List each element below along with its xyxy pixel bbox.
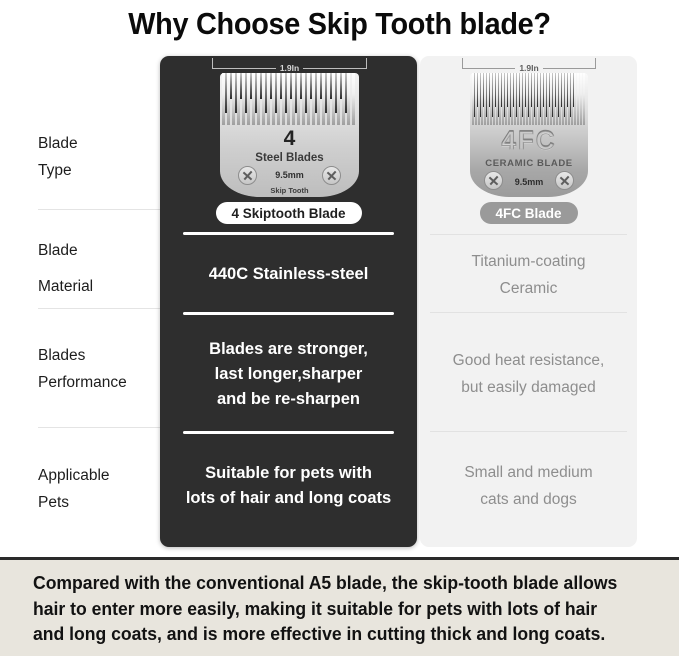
- cell-line: and be re-sharpen: [217, 387, 360, 412]
- dimension-cap-right: [366, 58, 367, 68]
- fc-pets-cell: Small and medium cats and dogs: [420, 448, 637, 523]
- cell-line: lots of hair and long coats: [186, 486, 391, 511]
- fc-performance-cell: Good heat resistance, but easily damaged: [420, 332, 637, 416]
- screw-icon: [322, 166, 341, 185]
- blade-face: 4 Steel Blades 9.5mm Skip Tooth: [220, 125, 359, 197]
- row-label-blade-type: Blade Type: [38, 130, 168, 184]
- row-label-line: Pets: [38, 489, 168, 516]
- comparison-table: Blade Type Blade Material Blades Perform…: [0, 52, 679, 552]
- dimension-cap-left: [462, 58, 463, 68]
- bottom-caption-band: Compared with the conventional A5 blade,…: [0, 557, 679, 656]
- screw-icon: [238, 166, 257, 185]
- skiptooth-pets-cell: Suitable for pets with lots of hair and …: [160, 448, 417, 523]
- row-label-column: Blade Type Blade Material Blades Perform…: [0, 52, 160, 552]
- blade-teeth: [220, 73, 359, 125]
- cell-divider: [183, 232, 394, 235]
- cell-line: Blades are stronger,: [209, 337, 368, 362]
- skiptooth-blade-pill-label: 4 Skiptooth Blade: [215, 202, 361, 224]
- row-label-applicable-pets: Applicable Pets: [38, 462, 168, 516]
- row-label-blades-performance: Blades Performance: [38, 342, 168, 396]
- row-label-line: Type: [38, 157, 168, 184]
- blade-subtitle: Steel Blades: [220, 152, 359, 164]
- cell-line: but easily damaged: [461, 374, 595, 401]
- cell-divider: [430, 234, 627, 235]
- blade-number: 4FC: [470, 125, 588, 156]
- cell-line: Small and medium: [464, 459, 592, 486]
- skiptooth-material-cell: 440C Stainless-steel: [160, 241, 417, 308]
- cell-divider: [430, 431, 627, 432]
- cell-divider: [183, 312, 394, 315]
- row-label-line: Performance: [38, 369, 168, 396]
- blade-subtitle: CERAMIC BLADE: [470, 158, 588, 169]
- row-divider: [38, 209, 160, 210]
- screw-icon: [555, 171, 574, 190]
- cell-line: Good heat resistance,: [453, 347, 605, 374]
- cell-line: 440C Stainless-steel: [209, 262, 369, 287]
- dimension-label: 1.9In: [515, 63, 542, 73]
- cell-line: cats and dogs: [480, 486, 577, 513]
- cell-line: Suitable for pets with: [205, 461, 372, 486]
- blade-body: 4FC CERAMIC BLADE 9.5mm: [470, 73, 588, 197]
- bottom-caption-text: Compared with the conventional A5 blade,…: [33, 570, 622, 647]
- blade-teeth: [470, 73, 588, 125]
- row-label-line: Blade: [38, 237, 168, 264]
- row-label-line: Blades: [38, 342, 168, 369]
- fc-blade-pill-label: 4FC Blade: [479, 202, 577, 224]
- row-label-line: Blade: [38, 130, 168, 157]
- cell-line: last longer,sharper: [215, 362, 363, 387]
- row-divider: [38, 308, 160, 309]
- blade-face: 4FC CERAMIC BLADE 9.5mm: [470, 125, 588, 197]
- screw-icon: [484, 171, 503, 190]
- skiptooth-performance-cell: Blades are stronger, last longer,sharper…: [160, 322, 417, 426]
- row-divider: [38, 427, 160, 428]
- dimension-cap-right: [595, 58, 596, 68]
- skiptooth-blade-column[interactable]: 1.9In: [160, 56, 417, 547]
- blade-tag: Skip Tooth: [220, 186, 359, 195]
- cell-line: Titanium-coating: [471, 248, 585, 275]
- blade-number: 4: [220, 127, 359, 151]
- row-label-blade-material: Blade Material: [38, 237, 168, 300]
- cell-divider: [430, 312, 627, 313]
- fc-material-cell: Titanium-coating Ceramic: [420, 241, 637, 308]
- cell-divider: [183, 431, 394, 434]
- cell-line: Ceramic: [500, 275, 558, 302]
- fc-blade-image: 1.9In: [420, 56, 637, 206]
- dimension-label: 1.9In: [276, 63, 303, 73]
- blade-body: 4 Steel Blades 9.5mm Skip Tooth: [220, 73, 359, 197]
- dimension-cap-left: [212, 58, 213, 68]
- row-label-line: Applicable: [38, 462, 168, 489]
- fc-blade-column[interactable]: 1.9In: [420, 56, 637, 547]
- page-title: Why Choose Skip Tooth blade?: [24, 0, 655, 48]
- skiptooth-blade-image: 1.9In: [160, 56, 417, 206]
- row-label-line: Material: [38, 273, 168, 300]
